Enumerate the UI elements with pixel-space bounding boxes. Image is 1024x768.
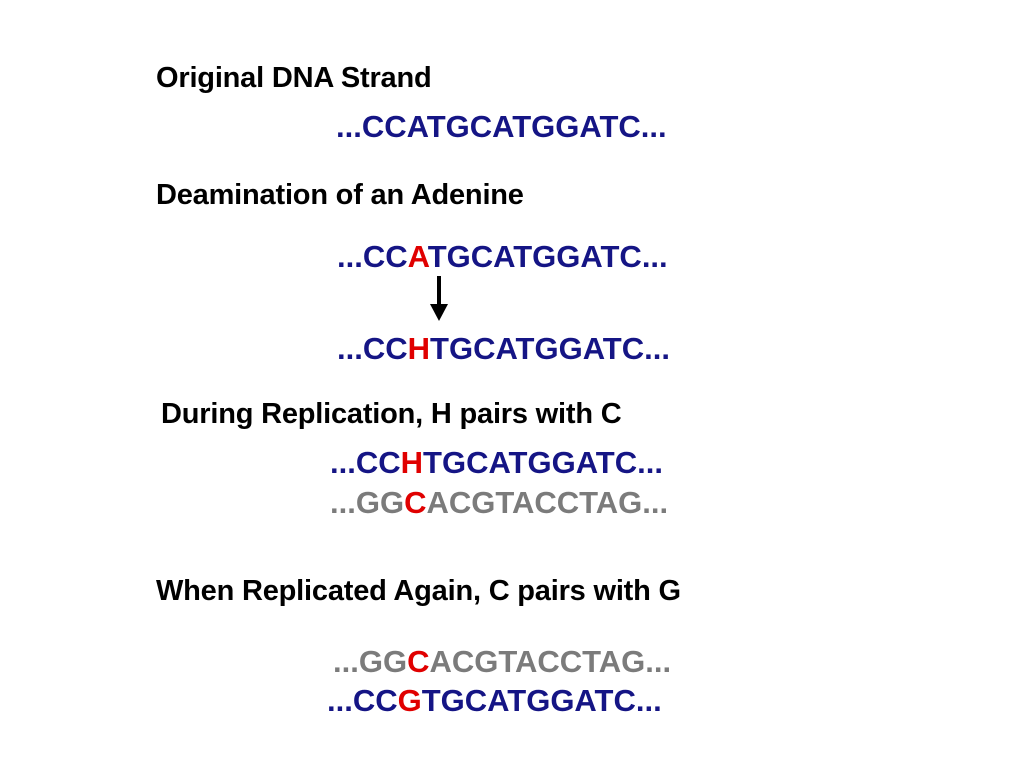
mutated-base-hypoxanthine: H xyxy=(401,445,423,480)
sequence-segment-prefix: ...CC xyxy=(337,331,408,366)
paired-base-cytosine: C xyxy=(404,485,426,520)
mutated-base-hypoxanthine: H xyxy=(408,331,430,366)
mutated-base-guanine: G xyxy=(398,683,422,718)
heading-deamination-of-an-adenine: Deamination of an Adenine xyxy=(156,179,524,211)
sequence-segment-suffix: ACGTACCTAG... xyxy=(426,485,668,520)
mutated-base-adenine: A xyxy=(408,239,428,274)
sequence-segment-suffix: ACGTACCTAG... xyxy=(429,644,671,679)
sequence-after-deamination: ...CCHTGCATGGATC... xyxy=(337,332,670,366)
sequence-original-coding-strand: ...CCATGCATGGATC... xyxy=(336,110,667,144)
sequence-segment-prefix: ...GG xyxy=(330,485,404,520)
down-arrow-icon xyxy=(424,276,452,322)
sequence-segment-suffix: TGCATGGATC... xyxy=(423,445,663,480)
sequence-segment-suffix: TGCATGGATC... xyxy=(428,239,668,274)
sequence-segment-suffix: TGCATGGATC... xyxy=(430,331,670,366)
sequence-segment-prefix: ...CC xyxy=(327,683,398,718)
sequence-again-coding-strand: ...CCGTGCATGGATC... xyxy=(327,684,662,718)
heading-original-dna-strand: Original DNA Strand xyxy=(156,62,431,94)
sequence-segment-prefix: ...CC xyxy=(330,445,401,480)
sequence-segment-prefix: ...CC xyxy=(337,239,408,274)
heading-when-replicated-again: When Replicated Again, C pairs with G xyxy=(156,575,681,607)
sequence-segment: ...CCATGCATGGATC... xyxy=(336,109,667,144)
sequence-before-deamination: ...CCATGCATGGATC... xyxy=(337,240,668,274)
heading-during-replication: During Replication, H pairs with C xyxy=(161,398,621,430)
sequence-segment-suffix: TGCATGGATC... xyxy=(422,683,662,718)
sequence-replication-template-strand: ...GGCACGTACCTAG... xyxy=(330,486,668,520)
sequence-segment-prefix: ...GG xyxy=(333,644,407,679)
paired-base-cytosine: C xyxy=(407,644,429,679)
sequence-again-template-strand: ...GGCACGTACCTAG... xyxy=(333,645,671,679)
dna-deamination-slide: Original DNA Strand ...CCATGCATGGATC... … xyxy=(0,0,1024,768)
sequence-replication-coding-strand: ...CCHTGCATGGATC... xyxy=(330,446,663,480)
